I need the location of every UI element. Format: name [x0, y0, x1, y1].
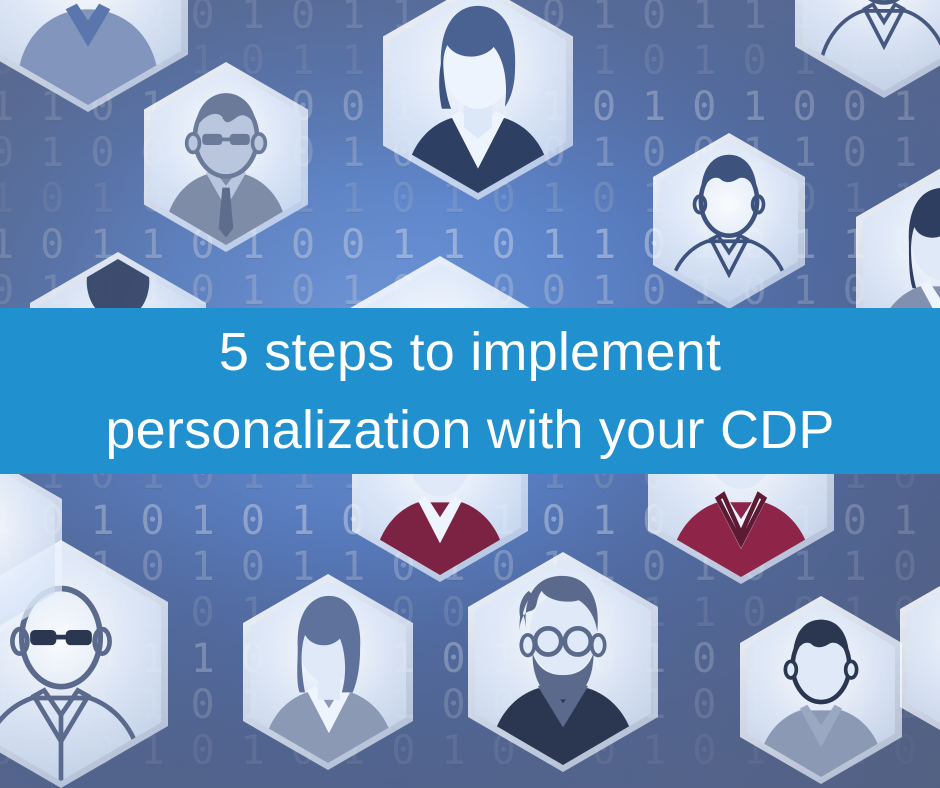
- avatar-frame: [660, 140, 798, 302]
- person-icon: [660, 140, 798, 302]
- title-banner: 5 steps to implement personalization wit…: [0, 308, 940, 474]
- avatar-frame: [151, 69, 301, 245]
- person-icon: [151, 69, 301, 245]
- avatar-frame: [390, 0, 566, 193]
- person-icon: [390, 0, 566, 193]
- person-icon: [747, 603, 895, 777]
- person-icon: [250, 581, 406, 763]
- banner-line-1: 5 steps to implement: [219, 313, 721, 391]
- avatar-frame: [250, 581, 406, 763]
- promo-graphic: 1 1 1 0 0 1 0 1 1 1 0 0 1 0 1 1 1 0 0 1 …: [0, 0, 940, 788]
- person-icon: [475, 559, 651, 765]
- avatar-frame: [747, 603, 895, 777]
- banner-line-2: personalization with your CDP: [105, 391, 834, 469]
- avatar-frame: [475, 559, 651, 765]
